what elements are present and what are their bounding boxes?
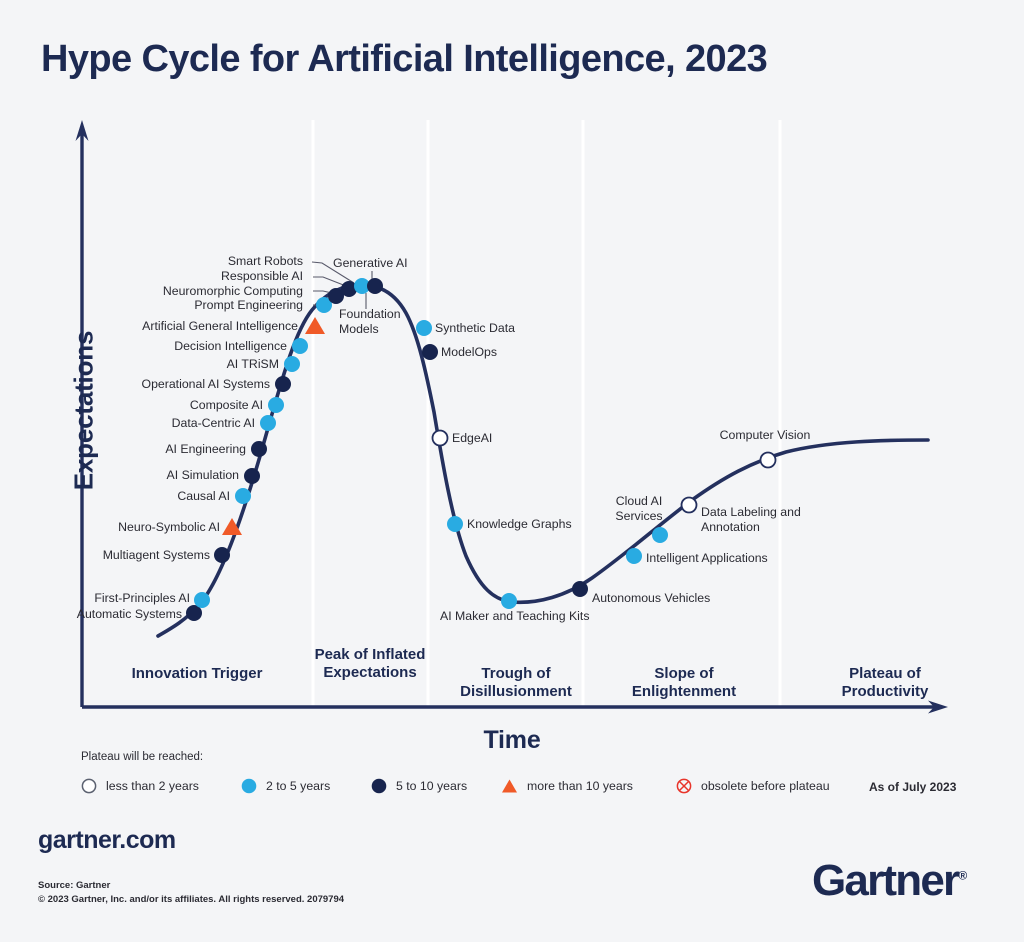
dark-blue-circle-icon — [371, 778, 387, 794]
legend-label: obsolete before plateau — [701, 779, 830, 793]
marker-ai-trism[interactable] — [284, 356, 300, 372]
marker-ai-engineering[interactable] — [251, 441, 267, 457]
label-intelligent-applications: Intelligent Applications — [646, 551, 846, 566]
label-decision-intelligence: Decision Intelligence — [30, 339, 287, 354]
source-text: Source: Gartner — [38, 879, 344, 893]
phase-label-slope-of-enlightenment: Slope of Enlightenment — [604, 665, 764, 702]
light-blue-circle-icon — [241, 778, 257, 794]
gartner-logo: Gartner® — [812, 856, 967, 906]
phase-label-plateau-of-productivity: Plateau of Productivity — [805, 665, 965, 702]
marker-autonomous-vehicles[interactable] — [572, 581, 588, 597]
marker-composite-ai[interactable] — [268, 397, 284, 413]
crossed-circle-icon — [676, 778, 692, 794]
label-composite-ai: Composite AI — [30, 398, 263, 413]
label-generative-ai: Generative AI — [333, 256, 453, 271]
label-data-centric-ai: Data-Centric AI — [30, 416, 255, 431]
label-knowledge-graphs: Knowledge Graphs — [467, 517, 627, 532]
x-axis — [82, 701, 948, 714]
label-ai-simulation: AI Simulation — [30, 468, 239, 483]
marker-intelligent-applications[interactable] — [626, 548, 642, 564]
registered-trademark-icon: ® — [958, 868, 967, 882]
as-of-date: As of July 2023 — [869, 780, 956, 794]
phase-label-trough-of-disillusionment: Trough of Disillusionment — [436, 665, 596, 702]
marker-edgeai[interactable] — [433, 431, 448, 446]
marker-computer-vision[interactable] — [761, 453, 776, 468]
marker-decision-intelligence[interactable] — [292, 338, 308, 354]
label-smart-robots: Smart Robots — [30, 254, 303, 269]
legend-label: 5 to 10 years — [396, 779, 467, 793]
phase-label-innovation-trigger: Innovation Trigger — [117, 665, 277, 683]
marker-data-centric-ai[interactable] — [260, 415, 276, 431]
marker-modelops[interactable] — [422, 344, 438, 360]
copyright-text: © 2023 Gartner, Inc. and/or its affiliat… — [38, 893, 344, 907]
legend-label: more than 10 years — [527, 779, 633, 793]
orange-triangle-icon — [501, 778, 518, 794]
label-foundation-models: Foundation Models — [339, 307, 419, 336]
label-first-principles-ai: First-Principles AI — [30, 591, 190, 606]
marker-ai-simulation[interactable] — [244, 468, 260, 484]
gartner-logo-text: Gartner — [812, 856, 958, 905]
legend-label: less than 2 years — [106, 779, 199, 793]
marker-ai-maker-and-teaching-kits[interactable] — [501, 593, 517, 609]
label-operational-ai-systems: Operational AI Systems — [30, 377, 270, 392]
label-edgeai: EdgeAI — [452, 431, 542, 446]
label-synthetic-data: Synthetic Data — [435, 321, 565, 336]
marker-causal-ai[interactable] — [235, 488, 251, 504]
legend-item-more-than-10-years[interactable]: more than 10 years — [501, 778, 633, 794]
marker-knowledge-graphs[interactable] — [447, 516, 463, 532]
label-responsible-ai: Responsible AI — [30, 269, 303, 284]
marker-multiagent-systems[interactable] — [214, 547, 230, 563]
label-ai-trism: AI TRiSM — [30, 357, 279, 372]
gartner-com-link[interactable]: gartner.com — [38, 826, 176, 855]
legend-item-obsolete-before-plateau[interactable]: obsolete before plateau — [676, 778, 830, 794]
label-prompt-engineering: Prompt Engineering — [30, 298, 303, 313]
label-autonomous-vehicles: Autonomous Vehicles — [592, 591, 792, 606]
legend-item-less-than-2-years[interactable]: less than 2 years — [81, 778, 199, 794]
hollow-circle-icon — [81, 778, 97, 794]
legend-caption: Plateau will be reached: — [81, 751, 203, 763]
label-modelops: ModelOps — [441, 345, 551, 360]
label-automatic-systems: Automatic Systems — [30, 607, 182, 622]
label-computer-vision: Computer Vision — [715, 428, 815, 443]
phase-label-peak-of-inflated-expectations: Peak of Inflated Expectations — [300, 646, 440, 683]
legend-label: 2 to 5 years — [266, 779, 330, 793]
hype-curve — [158, 285, 928, 636]
marker-operational-ai-systems[interactable] — [275, 376, 291, 392]
marker-cloud-ai-services[interactable] — [652, 527, 668, 543]
label-neuro-symbolic-ai: Neuro-Symbolic AI — [30, 520, 220, 535]
marker-first-principles-ai[interactable] — [194, 592, 210, 608]
source-attribution: Source: Gartner © 2023 Gartner, Inc. and… — [38, 879, 344, 907]
label-ai-engineering: AI Engineering — [30, 442, 246, 457]
label-cloud-ai-services: Cloud AI Services — [606, 494, 672, 523]
label-causal-ai: Causal AI — [30, 489, 230, 504]
label-data-labeling-and-annotation: Data Labeling and Annotation — [701, 505, 821, 534]
marker-data-labeling-and-annotation[interactable] — [682, 498, 697, 513]
label-multiagent-systems: Multiagent Systems — [30, 548, 210, 563]
legend-item-2-to-5-years[interactable]: 2 to 5 years — [241, 778, 330, 794]
legend-item-5-to-10-years[interactable]: 5 to 10 years — [371, 778, 467, 794]
label-artificial-general-intelligence: Artificial General Intelligence — [30, 319, 298, 334]
marker-generative-ai[interactable] — [367, 278, 383, 294]
marker-artificial-general-intelligence[interactable] — [305, 317, 325, 334]
label-neuromorphic-computing: Neuromorphic Computing — [30, 284, 303, 299]
label-ai-maker-and-teaching-kits: AI Maker and Teaching Kits — [440, 609, 660, 624]
